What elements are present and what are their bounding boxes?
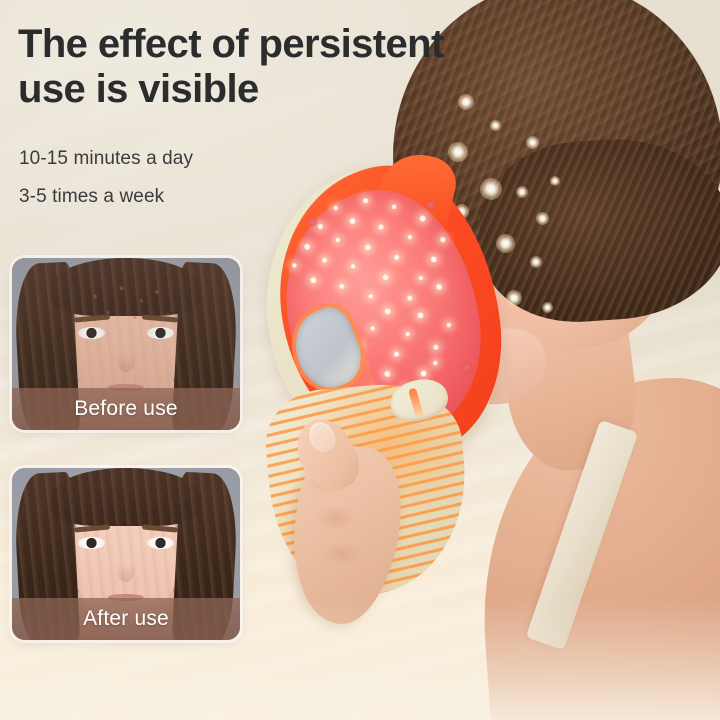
mask-led [383, 369, 392, 378]
mask-led [383, 307, 392, 316]
after-use-card: After use [12, 468, 240, 640]
page-title: The effect of persistent use is visible [18, 22, 518, 112]
mask-led [377, 223, 385, 231]
hand-knuckle [316, 506, 356, 530]
usage-frequency-text: 3-5 times a week [19, 186, 164, 208]
photo-nose [117, 557, 135, 581]
usage-duration-text: 10-15 minutes a day [19, 148, 193, 170]
mask-led [418, 214, 427, 223]
before-use-caption: Before use [12, 388, 240, 430]
mask-led [369, 325, 376, 332]
mask-led [432, 343, 440, 351]
mask-led [309, 276, 318, 285]
mask-led [338, 282, 346, 290]
mask-led [334, 237, 341, 244]
hand-knuckle [322, 542, 362, 566]
mask-led [418, 275, 425, 282]
mask-led [363, 243, 372, 252]
mask-led-off [461, 362, 473, 374]
mask-led [350, 263, 357, 270]
mask-led [404, 331, 411, 338]
mask-led [316, 223, 324, 231]
mask-led [445, 322, 452, 329]
mask-led [332, 205, 339, 212]
mask-led [432, 360, 439, 367]
mask-led [416, 311, 425, 320]
mask-led [367, 293, 374, 300]
mask-led [348, 217, 357, 226]
mask-led [439, 236, 447, 244]
mask-led [393, 254, 401, 262]
mask-led [435, 283, 444, 292]
photo-eye-right [147, 537, 174, 549]
mask-led [419, 369, 428, 378]
promo-image: The effect of persistent use is visible … [0, 0, 720, 720]
mask-led [391, 204, 398, 211]
mask-led [381, 273, 390, 282]
mask-led [303, 242, 312, 251]
mask-led [393, 350, 401, 358]
mask-led [429, 255, 438, 264]
mask-led [406, 294, 414, 302]
mask-led [406, 234, 413, 241]
after-use-caption: After use [12, 598, 240, 640]
mask-led [321, 256, 329, 264]
mask-led [291, 262, 298, 269]
before-use-card: Before use [12, 258, 240, 430]
mask-led [362, 197, 370, 205]
photo-eye-left [78, 537, 105, 549]
